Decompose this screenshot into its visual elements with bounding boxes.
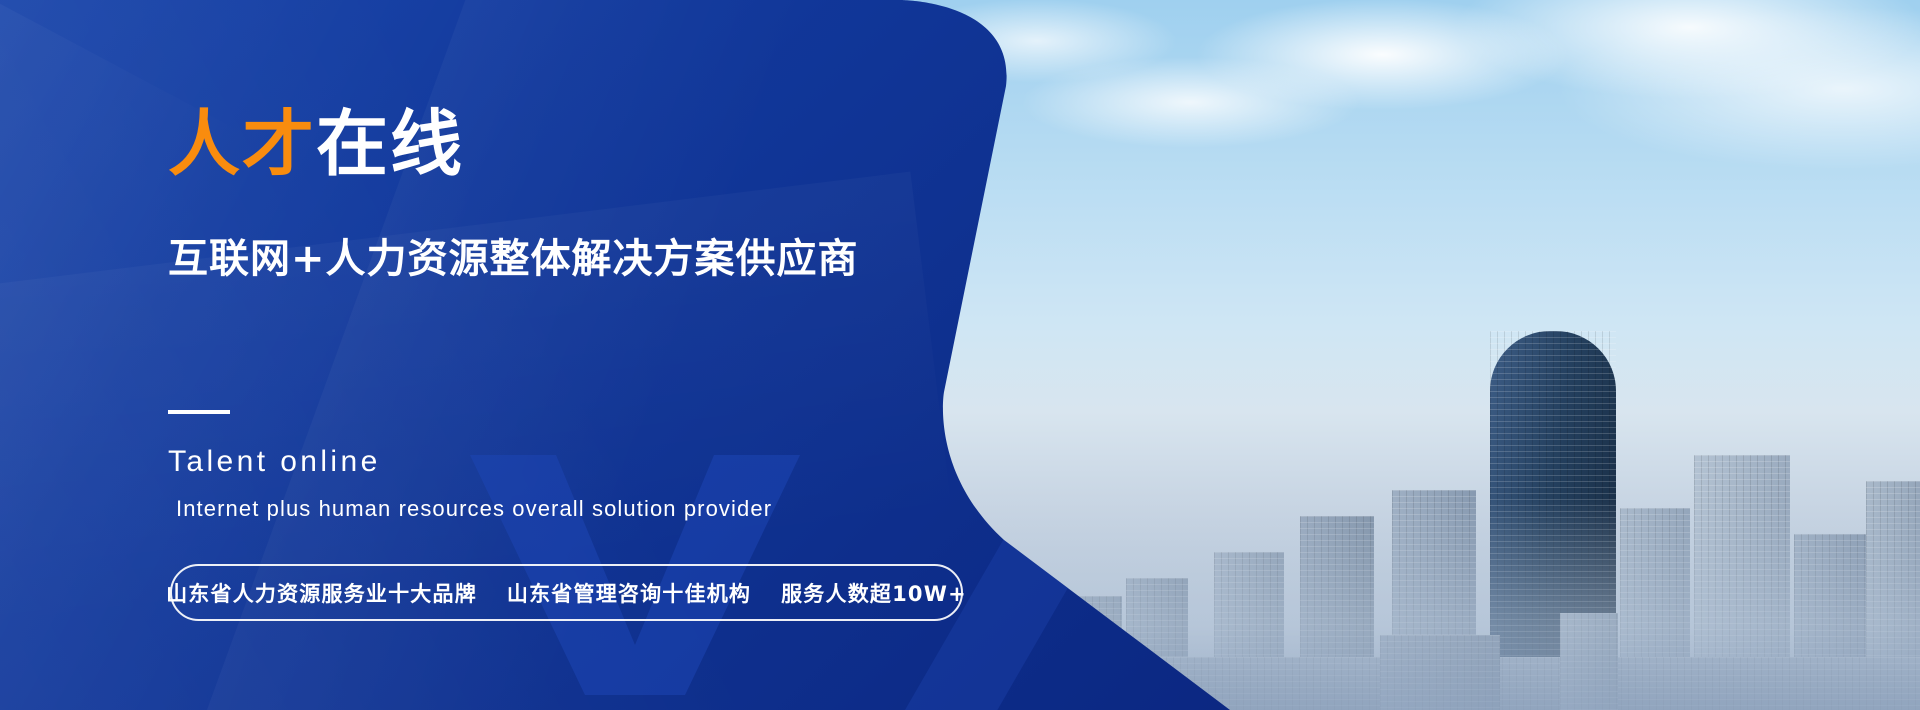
english-subtitle: Internet plus human resources overall so… xyxy=(176,498,772,520)
status-badge: 服务人数超10W+ xyxy=(781,578,967,608)
divider-rule xyxy=(168,410,230,414)
banner-content: 人才在线 互联网+人力资源整体解决方案供应商 Talent online Int… xyxy=(0,0,1000,710)
english-title: Talent online xyxy=(168,447,381,477)
page-subtitle: 互联网+人力资源整体解决方案供应商 xyxy=(168,237,859,281)
status-badge: 山东省人力资源服务业十大品牌 xyxy=(166,578,477,608)
title-accent-text: 人才 xyxy=(168,102,316,186)
page-title: 人才在线 xyxy=(168,108,464,180)
credentials-pill: 山东省人力资源服务业十大品牌 山东省管理咨询十佳机构 服务人数超10W+ xyxy=(170,564,963,621)
title-plain-text: 在线 xyxy=(316,102,464,186)
status-badge: 山东省管理咨询十佳机构 xyxy=(507,578,751,608)
hero-banner: 人才在线 互联网+人力资源整体解决方案供应商 Talent online Int… xyxy=(0,0,1920,710)
